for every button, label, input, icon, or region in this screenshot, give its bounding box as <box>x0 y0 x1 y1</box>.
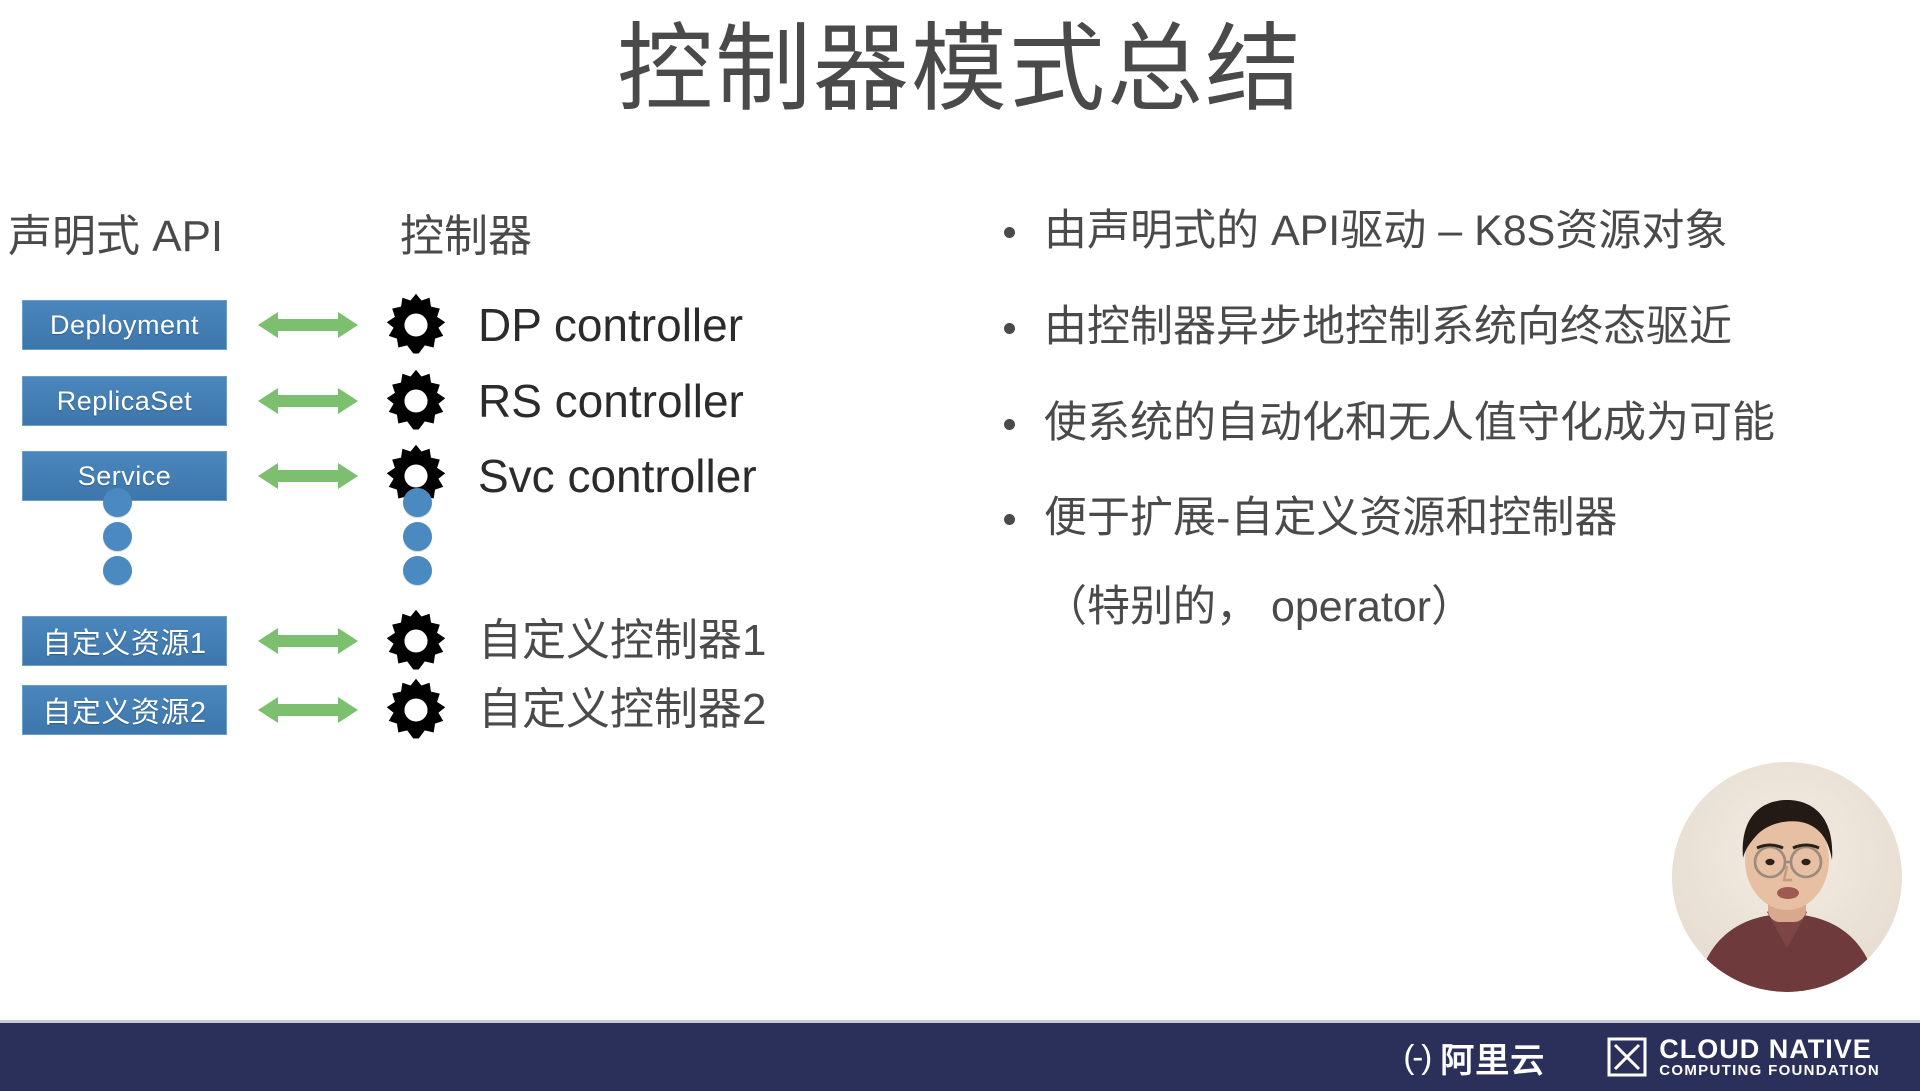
bullet-text: 由声明式的 API驱动 – K8S资源对象 <box>1044 207 1727 255</box>
bullet-text: 便于扩展-自定义资源和控制器 <box>1044 494 1617 542</box>
ellipsis-dot <box>103 556 132 585</box>
controller-label-dp: DP controller <box>478 302 743 348</box>
controller-label-custom-2: 自定义控制器2 <box>478 688 766 732</box>
vertical-ellipsis-resources <box>103 488 133 590</box>
avatar <box>1672 762 1902 992</box>
gear-icon <box>382 367 450 435</box>
cncf-logo: CLOUD NATIVE COMPUTING FOUNDATION <box>1607 1035 1880 1080</box>
double-arrow-icon <box>258 308 358 342</box>
diagram-row: Service Svc controller <box>0 447 960 505</box>
aliyun-logo-text: 阿里云 <box>1440 1033 1545 1082</box>
resource-box-replicaset[interactable]: ReplicaSet <box>22 376 227 426</box>
diagram-row: 自定义资源2 自定义控制器2 <box>0 681 960 739</box>
diagram-row: 自定义资源1 自定义控制器1 <box>0 612 960 670</box>
gear-icon <box>382 676 450 744</box>
diagram-row: ReplicaSet RS controller <box>0 372 960 430</box>
double-arrow-icon <box>258 693 358 727</box>
controller-label-svc: Svc controller <box>478 453 757 499</box>
page-title: 控制器模式总结 <box>0 10 1920 130</box>
ellipsis-dot <box>103 488 132 517</box>
bullet-dot-icon <box>1004 419 1015 430</box>
bullet-item: 便于扩展-自定义资源和控制器 <box>990 492 1890 546</box>
ellipsis-dot <box>403 488 432 517</box>
bullet-item: 由控制器异步地控制系统向终态驱近 <box>990 301 1890 355</box>
resource-box-custom-2[interactable]: 自定义资源2 <box>22 685 227 735</box>
bullet-dot-icon <box>1004 227 1015 238</box>
bullet-sub-note: （特别的， operator） <box>990 572 1890 634</box>
bullet-text: 使系统的自动化和无人值守化成为可能 <box>1044 399 1775 447</box>
bullet-dot-icon <box>1004 323 1015 334</box>
controller-label-rs: RS controller <box>478 378 744 424</box>
aliyun-mark-icon: (-) <box>1403 1038 1430 1076</box>
bullet-item: 由声明式的 API驱动 – K8S资源对象 <box>990 205 1890 259</box>
diagram-row: Deployment DP controller <box>0 296 960 354</box>
resource-box-deployment[interactable]: Deployment <box>22 300 227 350</box>
double-arrow-icon <box>258 624 358 658</box>
gear-icon <box>382 291 450 359</box>
bullet-item: 使系统的自动化和无人值守化成为可能 <box>990 397 1890 451</box>
vertical-ellipsis-controllers <box>403 488 433 590</box>
presenter-webcam-bubble[interactable] <box>1672 762 1902 992</box>
resource-box-custom-1[interactable]: 自定义资源1 <box>22 616 227 666</box>
ellipsis-dot <box>103 522 132 551</box>
cncf-logo-line2: COMPUTING FOUNDATION <box>1659 1063 1880 1080</box>
gear-icon <box>382 607 450 675</box>
column-header-controller: 控制器 <box>400 200 532 264</box>
double-arrow-icon <box>258 384 358 418</box>
ellipsis-dot <box>403 556 432 585</box>
bullet-dot-icon <box>1004 514 1015 525</box>
controller-label-custom-1: 自定义控制器1 <box>478 619 766 663</box>
bullet-text: 由控制器异步地控制系统向终态驱近 <box>1044 303 1732 351</box>
footer-bar: (-) 阿里云 CLOUD NATIVE COMPUTING FOUNDATIO… <box>0 1020 1920 1091</box>
controller-pattern-diagram: 声明式 API 控制器 Deployment DP controller Rep… <box>0 200 960 900</box>
ellipsis-dot <box>403 522 432 551</box>
cncf-mark-icon <box>1607 1037 1647 1077</box>
aliyun-logo: (-) 阿里云 <box>1403 1033 1545 1082</box>
double-arrow-icon <box>258 459 358 493</box>
cncf-logo-line1: CLOUD NATIVE <box>1659 1035 1880 1063</box>
column-header-declarative-api: 声明式 API <box>8 200 223 264</box>
summary-bullet-list: 由声明式的 API驱动 – K8S资源对象 由控制器异步地控制系统向终态驱近 使… <box>990 205 1890 634</box>
